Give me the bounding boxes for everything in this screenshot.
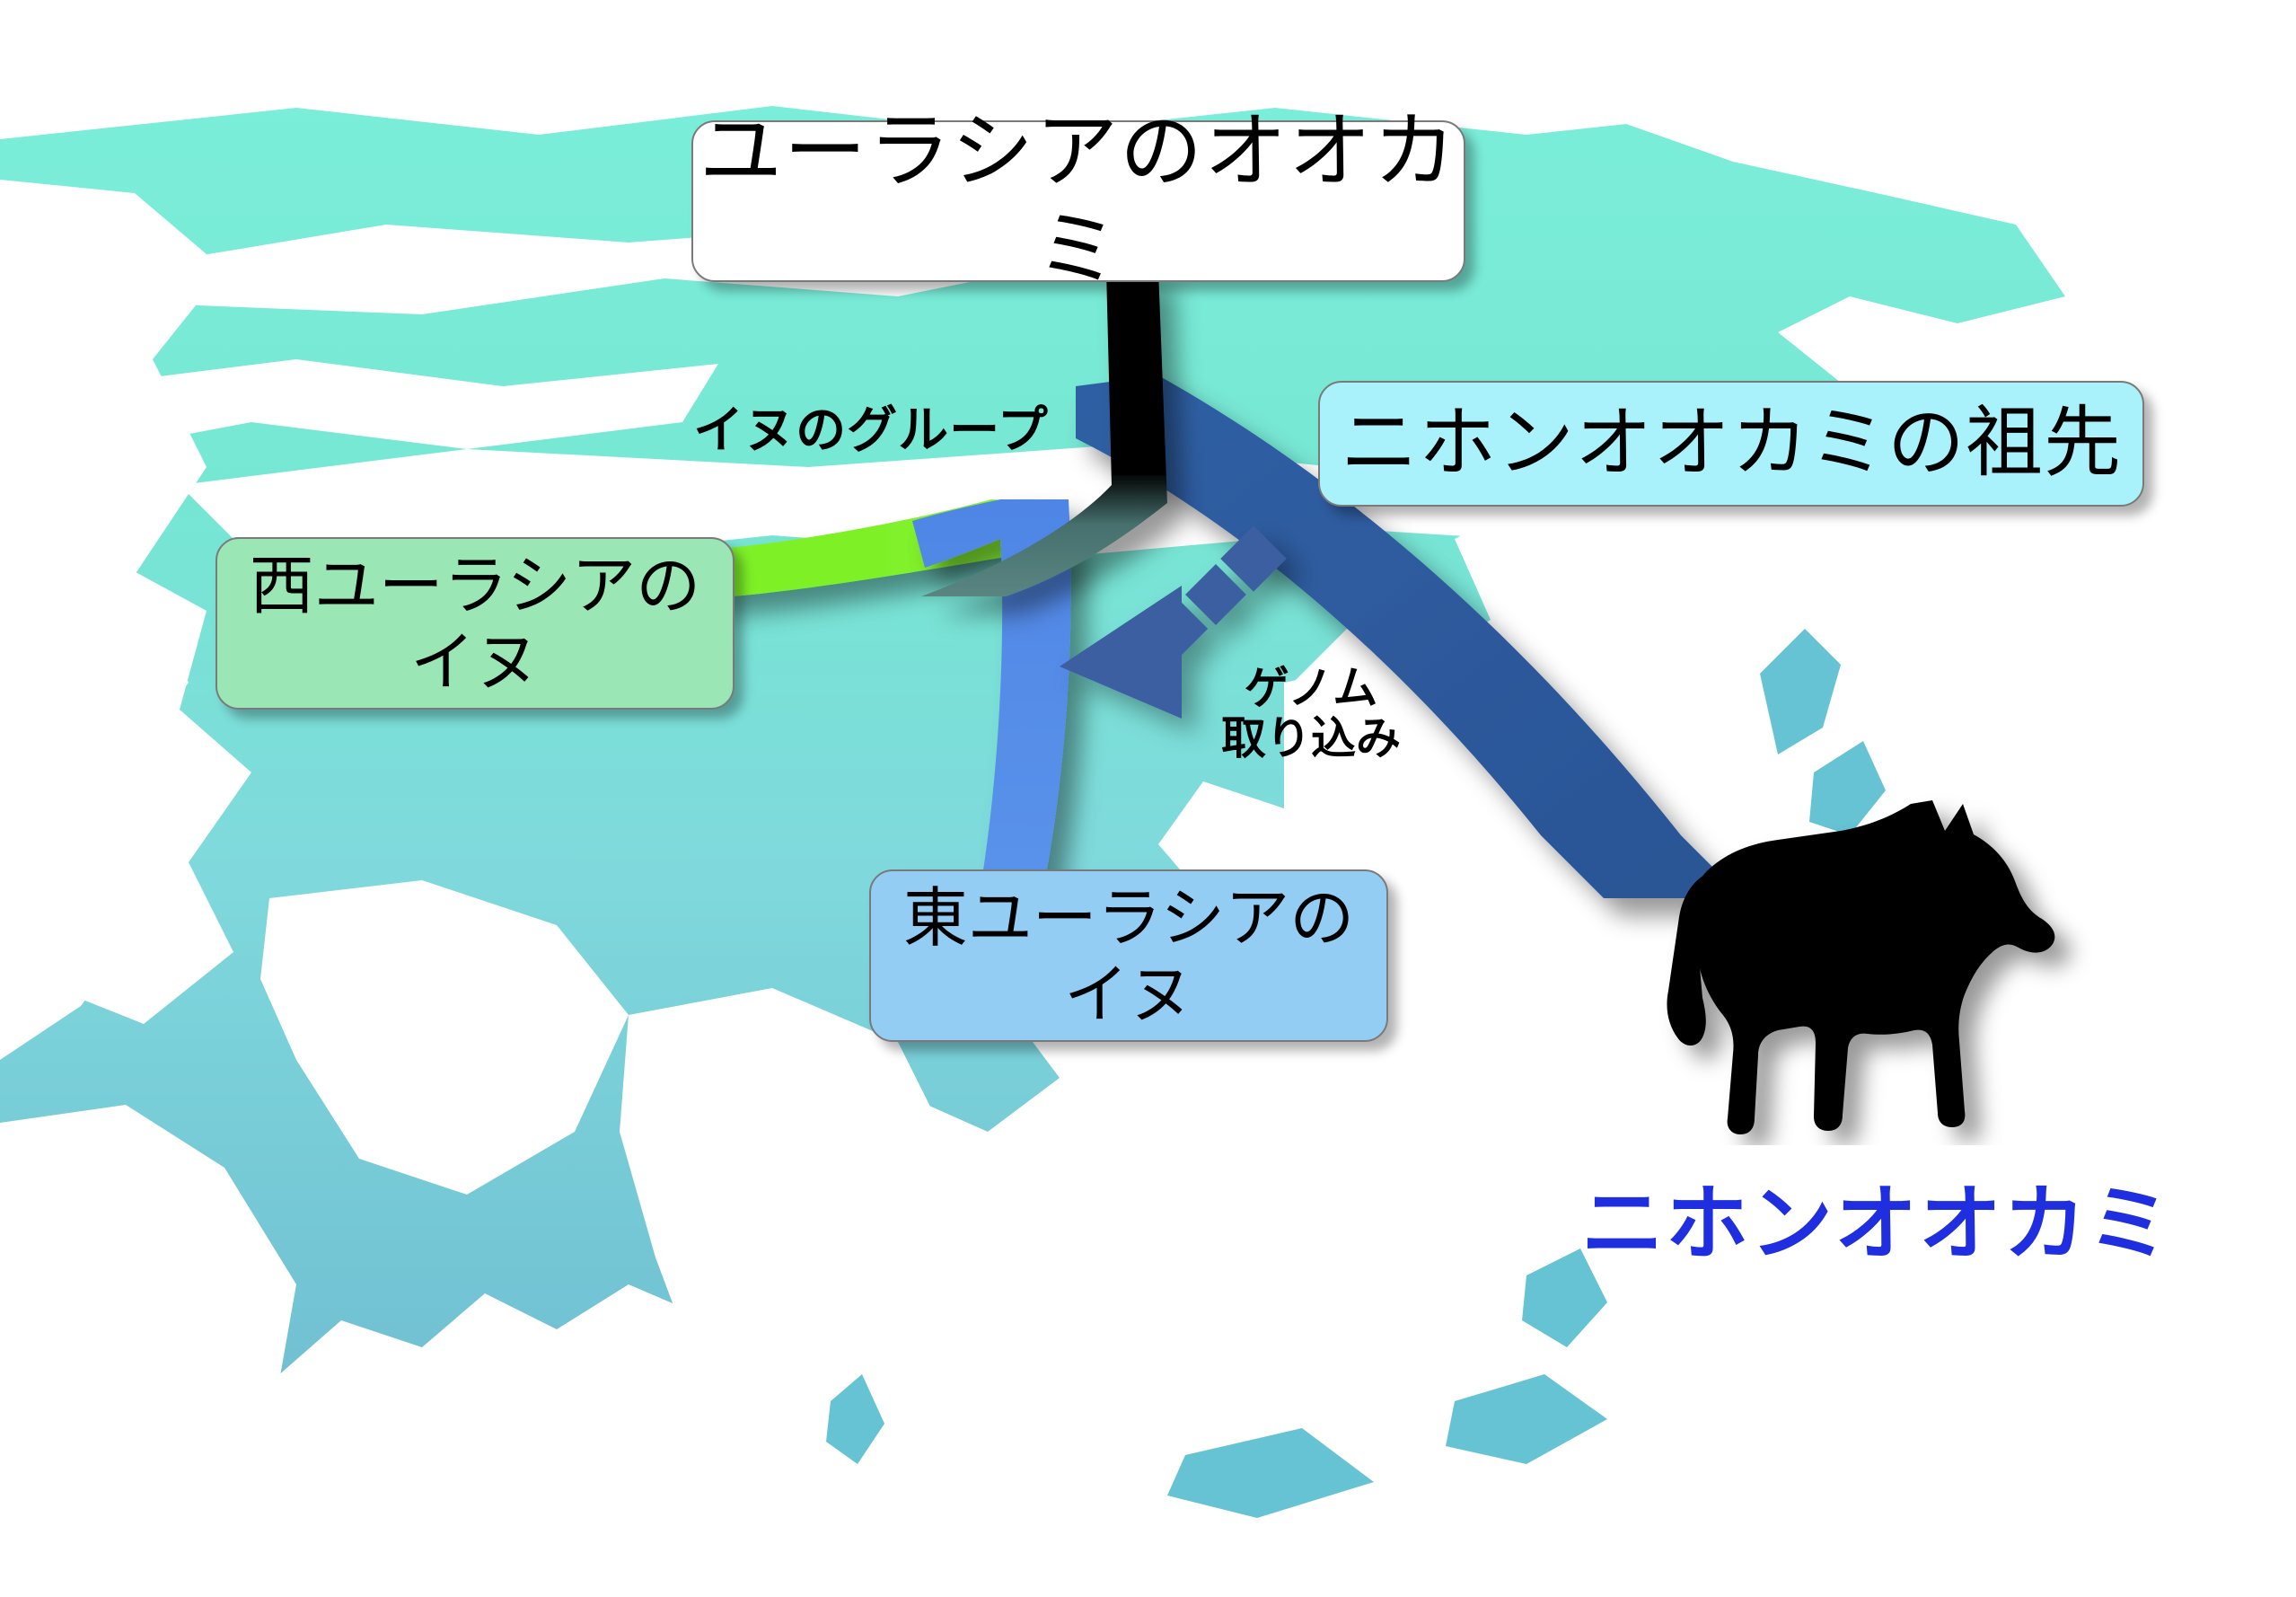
arrow-head (1060, 586, 1182, 719)
label-west-eurasian-dog[interactable]: 西ユーラシアの イヌ (216, 537, 735, 710)
label-japanese-wolf-ancestor[interactable]: ニホンオオカミの祖先 (1318, 381, 2144, 507)
title-japanese-wolf: ニホンオオカミ (1580, 1157, 2173, 1276)
caption-dog-group: イヌのグループ (682, 402, 1060, 459)
caption-genome-introgression: ゲノム 取り込み (1185, 663, 1437, 763)
diagram-canvas: ユーラシアのオオカミ ニホンオオカミの祖先 西ユーラシアの イヌ 東ユーラシアの… (0, 0, 2296, 1597)
label-east-eurasian-dog[interactable]: 東ユーラシアの イヌ (869, 869, 1388, 1042)
japanese-wolf-silhouette (1616, 768, 2119, 1145)
label-eurasian-wolf[interactable]: ユーラシアのオオカミ (691, 120, 1465, 282)
